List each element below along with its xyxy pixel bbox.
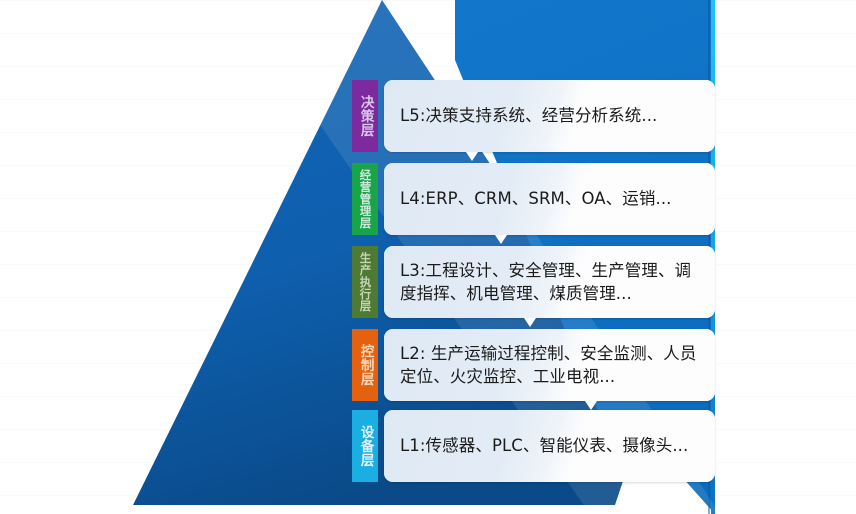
level-badge-l2[interactable]: 控制层 xyxy=(352,329,378,401)
level-card-l4[interactable]: L4:ERP、CRM、SRM、OA、运销... xyxy=(384,163,715,235)
pyramid-level-l3[interactable]: 生产执行层 L3:工程设计、安全管理、生产管理、调度指挥、机电管理、煤质管理..… xyxy=(352,246,715,318)
pyramid-diagram-slide: 决策层 L5:决策支持系统、经营分析系统... 经营管理层 L4:ERP、CRM… xyxy=(0,0,856,514)
pyramid-level-l2[interactable]: 控制层 L2: 生产运输过程控制、安全监测、人员定位、火灾监控、工业电视... xyxy=(352,329,715,401)
level-card-l3[interactable]: L3:工程设计、安全管理、生产管理、调度指挥、机电管理、煤质管理... xyxy=(384,246,715,318)
pyramid-level-l5[interactable]: 决策层 L5:决策支持系统、经营分析系统... xyxy=(352,80,715,152)
level-gap-arrow-l4 xyxy=(495,235,507,244)
level-card-text-l1: L1:传感器、PLC、智能仪表、摄像头... xyxy=(384,434,688,457)
pyramid-levels: 决策层 L5:决策支持系统、经营分析系统... 经营管理层 L4:ERP、CRM… xyxy=(0,0,856,514)
level-gap-arrow-l2 xyxy=(585,401,597,410)
level-card-text-l3: L3:工程设计、安全管理、生产管理、调度指挥、机电管理、煤质管理... xyxy=(384,259,715,306)
level-badge-l4[interactable]: 经营管理层 xyxy=(352,163,378,235)
level-card-text-l2: L2: 生产运输过程控制、安全监测、人员定位、火灾监控、工业电视... xyxy=(384,342,715,389)
level-badge-l3[interactable]: 生产执行层 xyxy=(352,246,378,318)
level-card-l1[interactable]: L1:传感器、PLC、智能仪表、摄像头... xyxy=(384,410,715,482)
pyramid-level-l1[interactable]: 设备层 L1:传感器、PLC、智能仪表、摄像头... xyxy=(352,410,715,482)
level-gap-arrow-l3 xyxy=(524,318,536,327)
level-card-text-l5: L5:决策支持系统、经营分析系统... xyxy=(384,104,657,127)
level-card-l5[interactable]: L5:决策支持系统、经营分析系统... xyxy=(384,80,715,152)
level-badge-l1[interactable]: 设备层 xyxy=(352,410,378,482)
level-card-text-l4: L4:ERP、CRM、SRM、OA、运销... xyxy=(384,187,672,210)
level-gap-arrow-l5 xyxy=(466,152,478,161)
pyramid-level-l4[interactable]: 经营管理层 L4:ERP、CRM、SRM、OA、运销... xyxy=(352,163,715,235)
level-card-l2[interactable]: L2: 生产运输过程控制、安全监测、人员定位、火灾监控、工业电视... xyxy=(384,329,715,401)
level-badge-l5[interactable]: 决策层 xyxy=(352,80,378,152)
